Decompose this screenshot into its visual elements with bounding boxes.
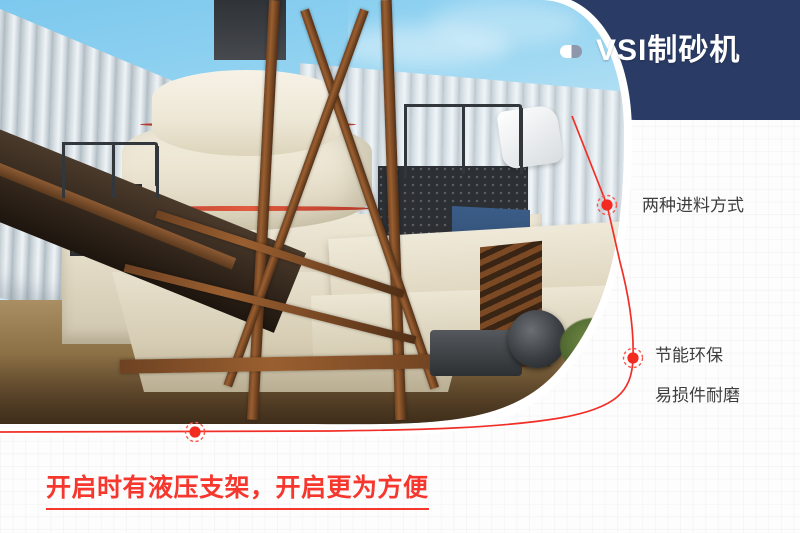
- annotation-label-wear-parts: 易损件耐磨: [655, 385, 740, 408]
- vsi-sand-making-machine-photo: [0, 0, 660, 450]
- handrail-post: [112, 144, 115, 198]
- shrub: [595, 330, 649, 378]
- red-dot-marker-2: [624, 349, 643, 368]
- handrail-left: [62, 142, 158, 186]
- annotation-label-feed-modes: 两种进料方式: [642, 195, 744, 218]
- handrail-post: [520, 108, 523, 174]
- flywheel-pulley: [508, 310, 566, 368]
- page-title: VSI制砂机: [596, 36, 740, 66]
- handrail-post: [62, 142, 65, 198]
- cloud-shape: [430, 0, 580, 46]
- promo-banner-canvas: VSI制砂机 两种进料方式 节能环保 易损件耐磨 开启时有液压支架，开启更为方便: [0, 0, 800, 533]
- handrail-post: [156, 146, 159, 198]
- pill-bullet-icon: [560, 45, 582, 58]
- banner-title-group: VSI制砂机: [560, 36, 740, 66]
- bottom-caption: 开启时有液压支架，开启更为方便: [46, 468, 429, 510]
- handrail-post: [404, 104, 407, 178]
- annotation-label-energy-saving: 节能环保: [655, 345, 723, 368]
- handrail-post: [462, 104, 465, 174]
